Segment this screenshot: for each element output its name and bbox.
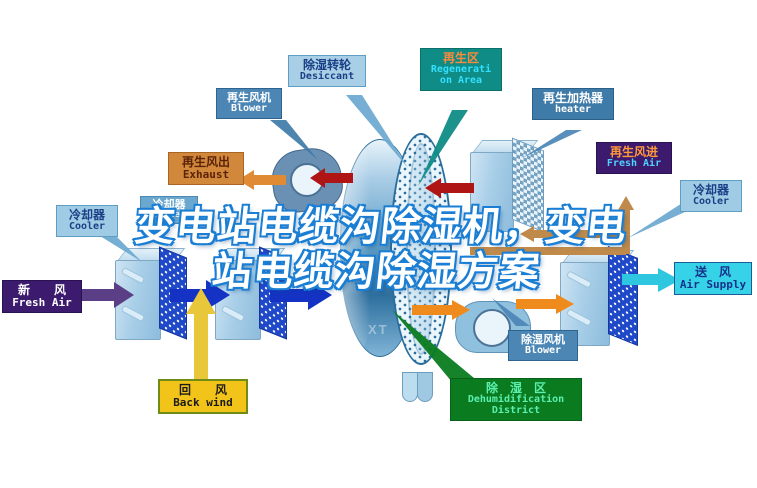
label-regeneration-heater[interactable]: 再生加热器 heater — [532, 88, 614, 120]
label-desiccant-wheel-en: Desiccant — [291, 72, 363, 83]
label-dehumidification-district-cn: 除 湿 区 — [453, 382, 579, 395]
label-regeneration-exhaust-en: Exhaust — [171, 169, 241, 181]
regen-return-arrow-1 — [310, 168, 352, 188]
page-title: 变电站电缆沟除湿机，变电 站电缆沟除湿方案 — [0, 205, 757, 295]
label-regeneration-fresh-air-in-en: Fresh Air — [599, 159, 669, 170]
page-title-line-2: 站电缆沟除湿方案 — [0, 250, 757, 295]
regen-return-arrow-2 — [425, 178, 473, 198]
diagram-canvas: XT — [0, 0, 757, 488]
label-regeneration-exhaust[interactable]: 再生风出 Exhaust — [168, 152, 244, 185]
label-cooler-right-cn: 冷却器 — [683, 184, 739, 197]
label-fresh-air-in-en: Fresh Air — [5, 297, 79, 309]
dehum-arrow-2 — [516, 294, 578, 314]
label-regeneration-area[interactable]: 再生区 Regenerati on Area — [420, 48, 502, 91]
watermark: XT — [368, 322, 389, 337]
label-regeneration-fresh-air-in-cn: 再生风进 — [599, 146, 669, 159]
label-regeneration-heater-cn: 再生加热器 — [535, 92, 611, 105]
label-regeneration-blower[interactable]: 再生风机 Blower — [216, 88, 282, 119]
label-desiccant-wheel-cn: 除湿转轮 — [291, 59, 363, 72]
label-desiccant-wheel[interactable]: 除湿转轮 Desiccant — [288, 55, 366, 87]
label-back-wind-cn: 回 风 — [162, 384, 244, 397]
label-dehumidification-district-en2: District — [453, 406, 579, 417]
label-regeneration-heater-en: heater — [535, 105, 611, 116]
condensate-drain — [402, 372, 436, 406]
exhaust-arrow — [238, 170, 286, 190]
label-dehumidification-district[interactable]: 除 湿 区 Dehumidification District — [450, 378, 582, 421]
back-wind-arrow — [186, 288, 216, 382]
page-title-line-1: 变电站电缆沟除湿机，变电 — [0, 205, 757, 250]
label-regeneration-exhaust-cn: 再生风出 — [171, 156, 241, 169]
label-regeneration-area-cn: 再生区 — [423, 52, 499, 65]
label-back-wind-en: Back wind — [162, 397, 244, 409]
label-regeneration-fresh-air-in[interactable]: 再生风进 Fresh Air — [596, 142, 672, 174]
dehum-arrow-1 — [412, 300, 474, 320]
label-dehumidification-blower[interactable]: 除湿风机 Blower — [508, 330, 578, 361]
label-regeneration-blower-en: Blower — [219, 104, 279, 115]
label-back-wind[interactable]: 回 风 Back wind — [158, 379, 248, 414]
label-dehumidification-blower-en: Blower — [511, 346, 575, 357]
label-regeneration-area-en2: on Area — [423, 76, 499, 87]
